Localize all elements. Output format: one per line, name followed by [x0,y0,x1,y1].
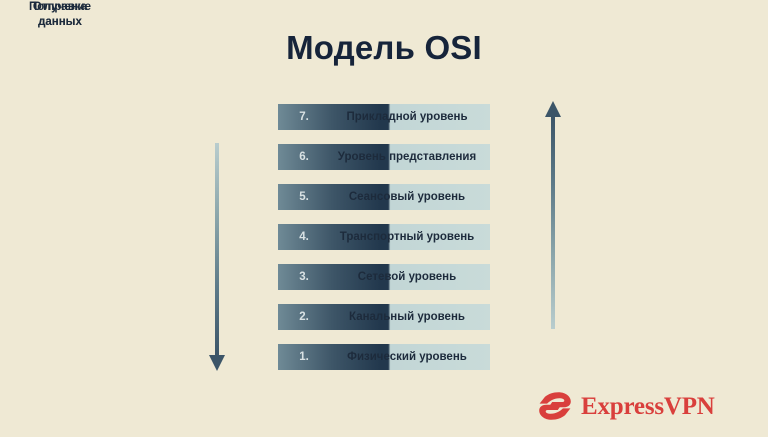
sending-data-arrow-down-icon [209,143,225,371]
osi-layer-row: 6.Уровень представления [278,144,490,170]
receiving-data-caption-line1: Получение [0,0,120,15]
arrow-head [209,355,225,371]
osi-layer-number: 5. [278,184,330,210]
osi-layer-label: Прикладной уровень [330,104,490,130]
osi-layer-number: 2. [278,304,330,330]
osi-model-infographic: Модель OSI Отправка данных 7.Прикладной … [0,0,768,437]
arrow-shaft [551,116,555,329]
osi-layer-label: Уровень представления [330,144,490,170]
osi-layer-row: 1.Физический уровень [278,344,490,370]
osi-layer-label: Физический уровень [330,344,490,370]
osi-layer-label: Транспортный уровень [330,224,490,250]
osi-layer-row: 3.Сетевой уровень [278,264,490,290]
osi-layer-number: 4. [278,224,330,250]
receiving-data-arrow-up-icon [545,101,561,329]
osi-layer-label: Сеансовый уровень [330,184,490,210]
page-title: Модель OSI [0,28,768,68]
osi-layer-number: 6. [278,144,330,170]
osi-layer-number: 1. [278,344,330,370]
osi-layer-row: 2.Канальный уровень [278,304,490,330]
osi-layer-label: Сетевой уровень [330,264,490,290]
osi-layer-number: 3. [278,264,330,290]
osi-layer-row: 5.Сеансовый уровень [278,184,490,210]
arrow-head [545,101,561,117]
osi-layer-label: Канальный уровень [330,304,490,330]
osi-layer-row: 4.Транспортный уровень [278,224,490,250]
receiving-data-caption: Получение данных [0,0,120,30]
arrow-shaft [215,143,219,356]
receiving-data-caption-line2: данных [0,15,120,30]
osi-layer-row: 7.Прикладной уровень [278,104,490,130]
expressvpn-wordmark: ExpressVPN [581,394,715,419]
expressvpn-logo: ExpressVPN [538,390,715,422]
osi-layer-number: 7. [278,104,330,130]
expressvpn-e-icon [538,390,572,422]
osi-layer-stack: 7.Прикладной уровень6.Уровень представле… [278,104,490,370]
